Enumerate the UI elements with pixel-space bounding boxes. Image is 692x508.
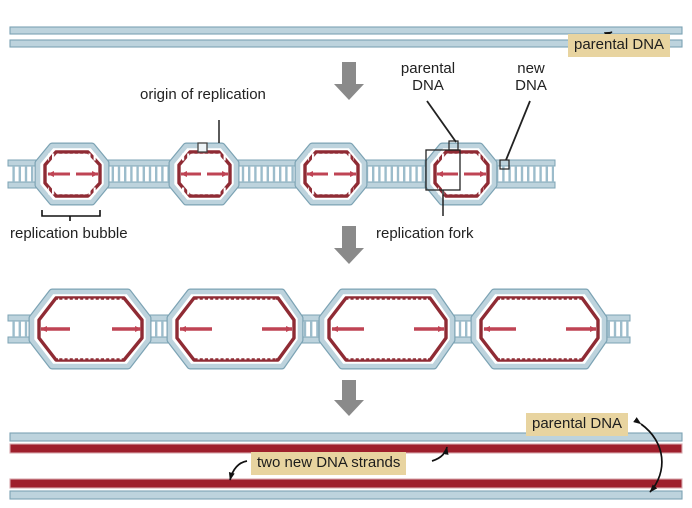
stage-2-small-bubbles xyxy=(8,101,555,221)
stage-arrow-2 xyxy=(334,226,364,264)
label-new-dna-callout-line1: new xyxy=(517,60,545,77)
daughter2-parental-strand xyxy=(10,491,682,499)
label-parental-dna-callout-line1: parental xyxy=(401,60,455,77)
stage-arrow-3 xyxy=(334,380,364,416)
replication-bubble-3 xyxy=(298,146,364,202)
label-parental-dna-callout: parental DNA xyxy=(384,60,472,94)
replication-bubble-4 xyxy=(426,141,509,202)
stage-arrow-1 xyxy=(334,62,364,100)
label-parental-dna-bottom: parental DNA xyxy=(526,413,628,436)
stage-3-large-bubbles xyxy=(8,292,630,366)
replication-bubble-large-4 xyxy=(474,292,604,366)
replication-bubble-2 xyxy=(172,143,236,202)
label-parental-dna-top: parental DNA xyxy=(568,34,670,57)
origin-of-replication-marker xyxy=(198,143,207,152)
label-origin-of-replication: origin of replication xyxy=(140,86,266,103)
replication-bubble-1 xyxy=(38,146,106,202)
leader-new-dna-callout xyxy=(506,101,530,160)
daughter2-new-strand xyxy=(10,479,682,488)
label-parental-dna-callout-line2: DNA xyxy=(412,77,444,94)
replication-bubble-large-1 xyxy=(32,292,148,366)
label-two-new-dna-strands: two new DNA strands xyxy=(251,452,406,475)
replication-bubble-large-3 xyxy=(322,292,452,366)
leader-parental-dna-callout xyxy=(427,101,456,142)
replication-bubble-large-2 xyxy=(170,292,300,366)
replication-bubble-brace xyxy=(42,210,100,221)
label-new-dna-callout-line2: DNA xyxy=(515,77,547,94)
label-new-dna-callout: new DNA xyxy=(495,60,567,94)
label-replication-bubble: replication bubble xyxy=(10,225,128,242)
label-replication-fork: replication fork xyxy=(376,225,474,242)
